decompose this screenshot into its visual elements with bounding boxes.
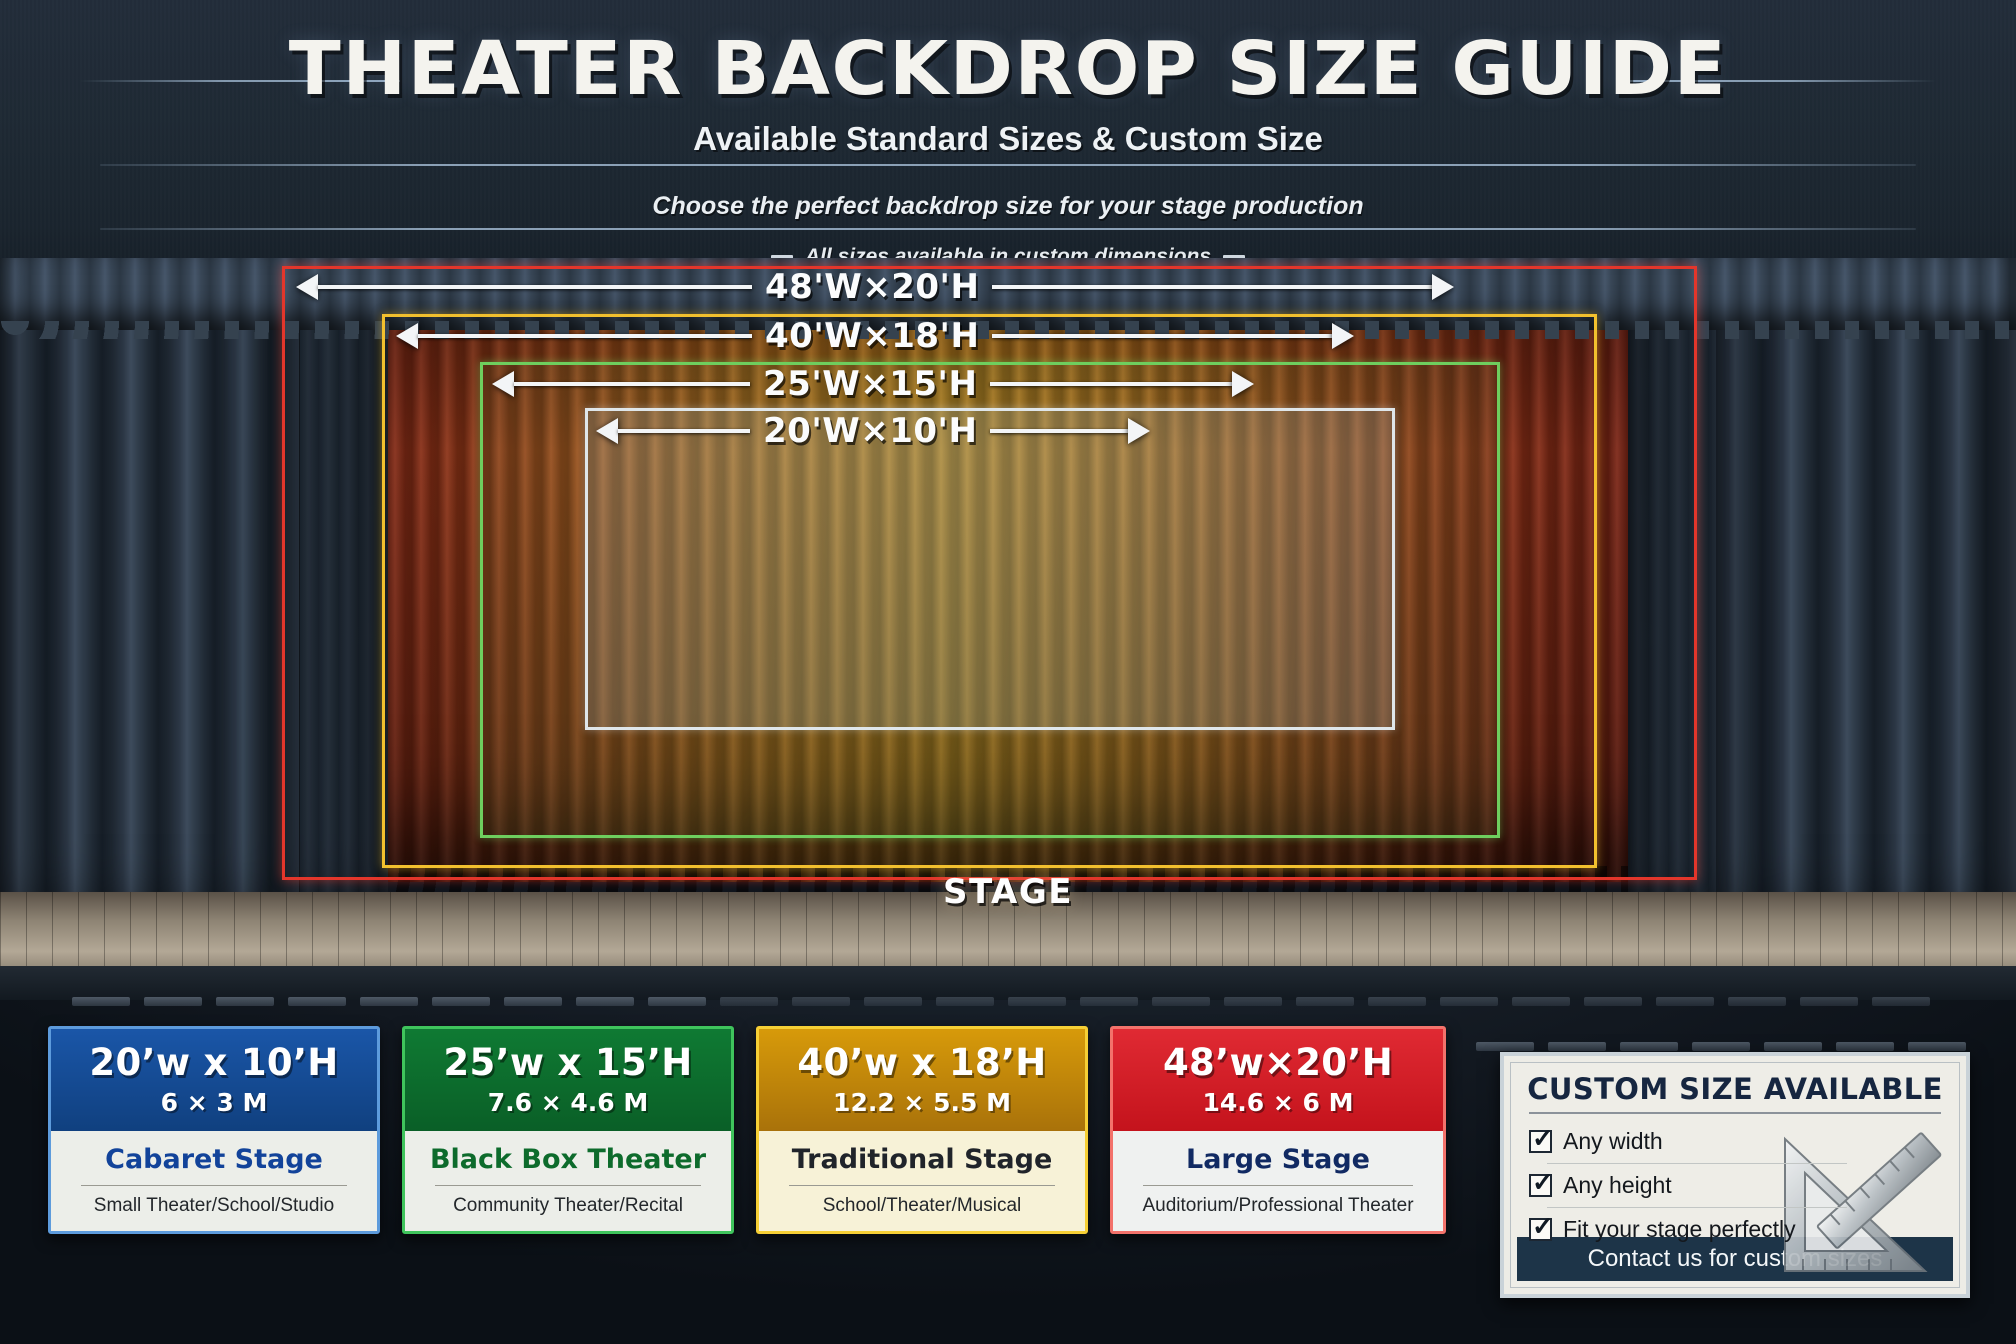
size-card-black-box-theater[interactable]: 25’w x 15’H 7.6 × 4.6 M Black Box Theate… <box>402 1026 734 1234</box>
card-usage: Community Theater/Recital <box>413 1195 723 1217</box>
card-meter-size: 12.2 × 5.5 M <box>767 1088 1077 1117</box>
checkbox-checked-icon[interactable] <box>1529 1130 1552 1153</box>
size-rect-20x10[interactable] <box>585 408 1395 730</box>
size-card-cabaret-stage[interactable]: 20’w x 10’H 6 × 3 M Cabaret Stage Small … <box>48 1026 380 1234</box>
card-usage: Auditorium/Professional Theater <box>1121 1195 1435 1217</box>
card-header: 40’w x 18’H 12.2 × 5.5 M <box>759 1029 1085 1131</box>
card-header: 48’w×20’H 14.6 × 6 M <box>1113 1029 1443 1131</box>
size-card-list: 20’w x 10’H 6 × 3 M Cabaret Stage Small … <box>48 1026 1446 1234</box>
stage-label: STAGE <box>0 872 2016 912</box>
card-divider <box>435 1185 701 1186</box>
custom-feature-label: Any width <box>1563 1128 1663 1155</box>
custom-feature-fit-stage[interactable]: Fit your stage perfectly <box>1529 1208 1959 1251</box>
card-body: Cabaret Stage Small Theater/School/Studi… <box>51 1131 377 1231</box>
arrow-line-left <box>618 429 750 433</box>
header: THEATER BACKDROP SIZE GUIDE Available St… <box>0 0 2016 300</box>
custom-feature-any-height[interactable]: Any height <box>1529 1164 1959 1207</box>
custom-size-inner: CUSTOM SIZE AVAILABLE <box>1510 1062 1960 1288</box>
dim-label-25x15: 25'W×15'H <box>750 364 990 404</box>
card-divider <box>789 1185 1055 1186</box>
card-header: 20’w x 10’H 6 × 3 M <box>51 1029 377 1131</box>
dim-label-48x20: 48'W×20'H <box>752 267 992 307</box>
custom-size-title-divider <box>1529 1112 1941 1114</box>
card-stage-name: Cabaret Stage <box>59 1144 369 1175</box>
card-divider <box>1143 1185 1413 1186</box>
stage-apron <box>0 966 2016 1000</box>
arrow-line-right <box>992 285 1432 289</box>
card-body: Large Stage Auditorium/Professional Thea… <box>1113 1131 1443 1231</box>
header-rule-bottom <box>100 228 1916 230</box>
checkbox-checked-icon[interactable] <box>1529 1218 1552 1241</box>
card-body: Traditional Stage School/Theater/Musical <box>759 1131 1085 1231</box>
page-title: THEATER BACKDROP SIZE GUIDE <box>0 26 2016 112</box>
page-tagline: Choose the perfect backdrop size for you… <box>0 192 2016 221</box>
arrow-head-right-icon <box>1232 371 1254 397</box>
card-stage-name: Traditional Stage <box>767 1144 1077 1175</box>
arrow-head-right-icon <box>1432 274 1454 300</box>
dim-arrow-25x15: 25'W×15'H <box>492 363 1488 405</box>
arrow-head-right-icon <box>1128 418 1150 444</box>
dim-arrow-48x20: 48'W×20'H <box>296 266 1686 308</box>
arrow-head-left-icon <box>396 323 418 349</box>
stage-illustration: 48'W×20'H 40'W×18'H 25'W×15'H 20'W×10'H … <box>0 258 2016 1000</box>
arrow-head-left-icon <box>296 274 318 300</box>
arrow-head-right-icon <box>1332 323 1354 349</box>
arrow-line-left <box>418 334 752 338</box>
arrow-line-right <box>990 382 1232 386</box>
arrow-line-left <box>318 285 752 289</box>
arrow-line-left <box>514 382 750 386</box>
size-card-traditional-stage[interactable]: 40’w x 18’H 12.2 × 5.5 M Traditional Sta… <box>756 1026 1088 1234</box>
dim-label-20x10: 20'W×10'H <box>750 411 990 451</box>
card-feet-size: 25’w x 15’H <box>413 1041 723 1084</box>
card-usage: Small Theater/School/Studio <box>59 1195 369 1217</box>
curtain-wing-left <box>0 258 300 958</box>
custom-feature-label: Fit your stage perfectly <box>1563 1216 1796 1243</box>
card-divider <box>81 1185 347 1186</box>
header-rule-mid <box>100 164 1916 166</box>
dim-label-40x18: 40'W×18'H <box>752 316 992 356</box>
card-meter-size: 6 × 3 M <box>59 1088 369 1117</box>
curtain-wing-right <box>1716 258 2016 958</box>
footlight-row-left <box>72 997 1930 1006</box>
custom-size-panel[interactable]: CUSTOM SIZE AVAILABLE <box>1500 1052 1970 1298</box>
dim-arrow-20x10: 20'W×10'H <box>596 410 1384 452</box>
card-stage-name: Large Stage <box>1121 1144 1435 1175</box>
card-stage-name: Black Box Theater <box>413 1144 723 1175</box>
card-feet-size: 48’w×20’H <box>1121 1041 1435 1084</box>
arrow-line-right <box>990 429 1128 433</box>
footlight-row-right <box>1476 1042 1966 1051</box>
dim-arrow-40x18: 40'W×18'H <box>396 315 1586 357</box>
arrow-line-right <box>992 334 1332 338</box>
card-meter-size: 7.6 × 4.6 M <box>413 1088 723 1117</box>
card-feet-size: 20’w x 10’H <box>59 1041 369 1084</box>
size-card-large-stage[interactable]: 48’w×20’H 14.6 × 6 M Large Stage Auditor… <box>1110 1026 1446 1234</box>
page-subtitle: Available Standard Sizes & Custom Size <box>0 120 2016 158</box>
custom-feature-any-width[interactable]: Any width <box>1529 1120 1959 1163</box>
custom-size-title: CUSTOM SIZE AVAILABLE <box>1511 1063 1959 1112</box>
card-usage: School/Theater/Musical <box>767 1195 1077 1217</box>
custom-feature-label: Any height <box>1563 1172 1672 1199</box>
card-header: 25’w x 15’H 7.6 × 4.6 M <box>405 1029 731 1131</box>
checkbox-checked-icon[interactable] <box>1529 1174 1552 1197</box>
card-body: Black Box Theater Community Theater/Reci… <box>405 1131 731 1231</box>
card-meter-size: 14.6 × 6 M <box>1121 1088 1435 1117</box>
poster-root: THEATER BACKDROP SIZE GUIDE Available St… <box>0 0 2016 1344</box>
custom-size-feature-list: Any width Any height Fit your stage perf… <box>1511 1120 1959 1251</box>
card-feet-size: 40’w x 18’H <box>767 1041 1077 1084</box>
arrow-head-left-icon <box>492 371 514 397</box>
arrow-head-left-icon <box>596 418 618 444</box>
